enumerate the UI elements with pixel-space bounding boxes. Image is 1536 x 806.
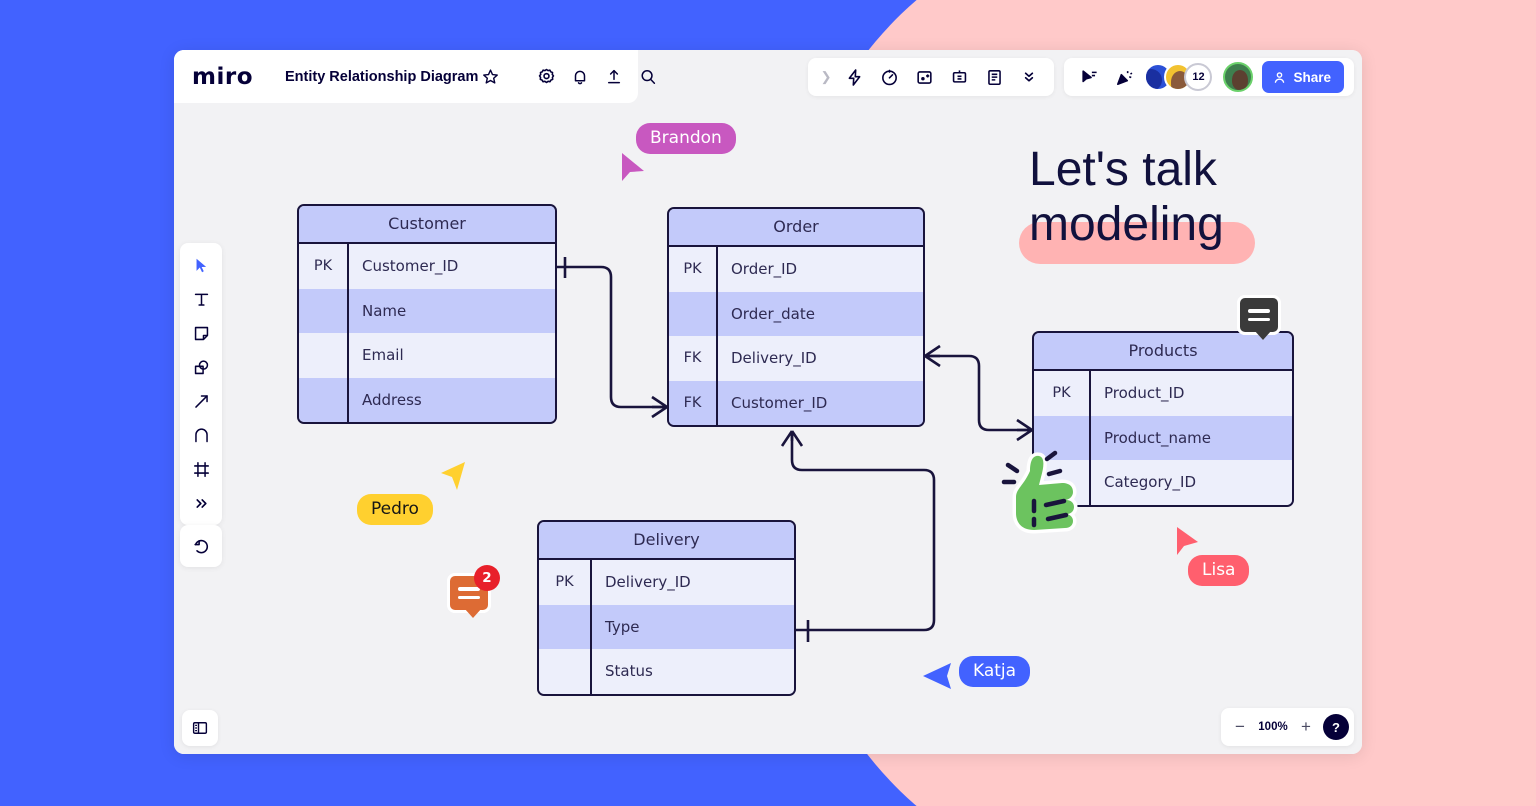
bell-icon[interactable] <box>565 62 595 92</box>
er-row-key <box>299 378 349 423</box>
er-row-field: Status <box>592 649 794 694</box>
miro-app-window: Customer PK Customer_ID Name Email Addre… <box>174 50 1362 754</box>
er-row-field: Customer_ID <box>349 244 555 289</box>
more-tools-button[interactable] <box>185 487 217 519</box>
er-row-field: Order_date <box>718 292 923 337</box>
collaborator-avatars[interactable]: 12 <box>1144 63 1212 91</box>
help-button[interactable]: ? <box>1323 714 1349 740</box>
headline-line-2: modeling <box>1029 197 1289 252</box>
comment-tail <box>464 608 482 618</box>
text-tool[interactable] <box>185 283 217 315</box>
search-icon[interactable] <box>633 62 663 92</box>
er-table-order[interactable]: Order PK Order_ID Order_date FK Delivery… <box>667 207 925 427</box>
er-row-field: Category_ID <box>1091 460 1292 505</box>
upload-icon[interactable] <box>599 62 629 92</box>
er-row-field: Email <box>349 333 555 378</box>
current-user-avatar[interactable] <box>1223 62 1253 92</box>
er-row[interactable]: PK Delivery_ID <box>539 560 794 605</box>
cursor-label: Pedro <box>357 494 433 525</box>
er-row[interactable]: PK Customer_ID <box>299 244 555 289</box>
top-right-toolbars: ❯ <box>808 58 1354 96</box>
er-row-key: PK <box>1034 371 1091 416</box>
headline-line-1: Let's talk <box>1029 142 1289 197</box>
er-row[interactable]: PK Product_ID <box>1034 371 1292 416</box>
connector-tool[interactable] <box>185 385 217 417</box>
headline-text[interactable]: Let's talk modeling <box>1029 142 1289 252</box>
miro-logo[interactable]: miro <box>192 64 253 90</box>
er-row-key: PK <box>669 247 718 292</box>
cursor-label: Katja <box>959 656 1030 687</box>
er-row-key <box>669 292 718 337</box>
top-left-toolbar: miro Entity Relationship Diagram <box>174 50 638 103</box>
er-row[interactable]: Email <box>299 333 555 378</box>
cursor-katja: Katja <box>959 656 1030 687</box>
er-row-key: PK <box>539 560 592 605</box>
cursor-lisa: Lisa <box>1188 555 1249 586</box>
zoom-level-value[interactable]: 100% <box>1254 721 1292 733</box>
timer-icon[interactable] <box>874 62 904 92</box>
gear-icon[interactable] <box>531 62 561 92</box>
er-table-title: Order <box>669 209 923 247</box>
er-table-delivery[interactable]: Delivery PK Delivery_ID Type Status <box>537 520 796 696</box>
star-icon[interactable] <box>482 62 499 92</box>
select-tool[interactable] <box>185 249 217 281</box>
party-popper-icon[interactable] <box>1109 62 1139 92</box>
cursor-pedro: Pedro <box>357 494 433 525</box>
comment-count-badge: 2 <box>474 565 500 591</box>
sticky-note-tool[interactable] <box>185 317 217 349</box>
zoom-controls: − 100% + ? <box>1221 708 1354 746</box>
comment-icon <box>1248 309 1270 321</box>
er-row-field: Delivery_ID <box>592 560 794 605</box>
er-table-customer[interactable]: Customer PK Customer_ID Name Email Addre… <box>297 204 557 424</box>
er-table-title: Customer <box>299 206 555 244</box>
notes-icon[interactable] <box>979 62 1009 92</box>
er-row-key <box>299 289 349 334</box>
zoom-in-button[interactable]: + <box>1295 717 1317 737</box>
cursor-pointer-icon <box>921 661 955 691</box>
er-row[interactable]: Name <box>299 289 555 334</box>
frame-icon[interactable] <box>909 62 939 92</box>
tool-rail <box>180 243 222 525</box>
thumbs-up-sticker[interactable] <box>1000 445 1084 542</box>
expand-chevron-icon[interactable]: ❯ <box>818 69 835 85</box>
er-row-field: Delivery_ID <box>718 336 923 381</box>
cursor-brandon: Brandon <box>636 123 736 154</box>
er-row-field: Type <box>592 605 794 650</box>
er-row[interactable]: Status <box>539 649 794 694</box>
er-row[interactable]: Order_date <box>669 292 923 337</box>
more-chevrons-icon[interactable] <box>1014 62 1044 92</box>
er-row[interactable]: PK Order_ID <box>669 247 923 292</box>
er-row-field: Name <box>349 289 555 334</box>
cursor-pointer-icon <box>437 460 469 494</box>
er-row-key <box>299 333 349 378</box>
comment-badge-dark[interactable] <box>1237 295 1281 335</box>
frame-tool[interactable] <box>185 453 217 485</box>
er-row[interactable]: Type <box>539 605 794 650</box>
er-row[interactable]: FK Customer_ID <box>669 381 923 426</box>
er-row-key: PK <box>299 244 349 289</box>
er-row-key: FK <box>669 336 718 381</box>
undo-button[interactable] <box>180 525 222 567</box>
zoom-out-button[interactable]: − <box>1229 717 1251 737</box>
er-row-field: Product_ID <box>1091 371 1292 416</box>
share-button[interactable]: Share <box>1262 61 1344 93</box>
cursor-label: Lisa <box>1188 555 1249 586</box>
cursor-pointer-icon <box>1174 525 1204 559</box>
presentation-icon[interactable] <box>944 62 974 92</box>
collaboration-pill: 12 Share <box>1064 58 1354 96</box>
panel-toggle-button[interactable] <box>182 710 218 746</box>
er-table-title: Delivery <box>539 522 794 560</box>
er-row-key: FK <box>669 381 718 426</box>
follow-cursor-icon[interactable] <box>1074 62 1104 92</box>
er-row[interactable]: Address <box>299 378 555 423</box>
er-row-field: Product_name <box>1091 416 1292 461</box>
cursor-label: Brandon <box>636 123 736 154</box>
share-label: Share <box>1293 70 1331 85</box>
er-row[interactable]: FK Delivery_ID <box>669 336 923 381</box>
shapes-tool[interactable] <box>185 351 217 383</box>
er-row-key <box>539 649 592 694</box>
comment-tail <box>1254 330 1272 340</box>
er-row-field: Customer_ID <box>718 381 923 426</box>
cursor-pointer-icon <box>620 151 650 185</box>
comment-icon <box>458 587 480 599</box>
comment-badge-orange[interactable]: 2 <box>447 573 491 613</box>
board-title[interactable]: Entity Relationship Diagram <box>285 69 478 85</box>
er-row-field: Address <box>349 378 555 423</box>
avatar-overflow-count[interactable]: 12 <box>1184 63 1212 91</box>
pen-tool[interactable] <box>185 419 217 451</box>
er-row-key <box>539 605 592 650</box>
er-row-field: Order_ID <box>718 247 923 292</box>
lightning-icon[interactable] <box>839 62 869 92</box>
board-tools-pill: ❯ <box>808 58 1055 96</box>
